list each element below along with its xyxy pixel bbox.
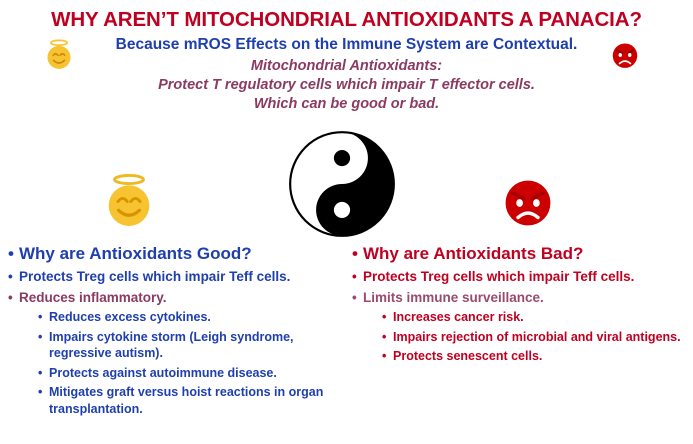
column-antioxidants-good: • Why are Antioxidants Good? • Protects …	[8, 243, 346, 420]
right-heading-row: • Why are Antioxidants Bad?	[352, 243, 688, 264]
page-subtitle: Because mROS Effects on the Immune Syste…	[0, 36, 693, 54]
left-column-heading: Why are Antioxidants Good?	[19, 243, 346, 264]
list-item-label: Protects Treg cells which impair Teff ce…	[19, 267, 346, 286]
list-item: • Mitigates graft versus hoist reactions…	[38, 384, 346, 417]
note-line-1: Mitochondrial Antioxidants:	[0, 57, 693, 76]
bullet-glyph: •	[38, 384, 49, 401]
list-item: • Reduces inflammatory.	[8, 288, 346, 307]
slide-canvas: WHY AREN’T MITOCHONDRIAL ANTIOXIDANTS A …	[0, 0, 693, 444]
list-item-label: Impairs cytokine storm (Leigh syndrome, …	[49, 329, 346, 362]
list-item: • Protects senescent cells.	[382, 348, 688, 365]
list-item-label: Reduces inflammatory.	[19, 288, 346, 307]
page-title: WHY AREN’T MITOCHONDRIAL ANTIOXIDANTS A …	[0, 8, 693, 32]
list-item-label: Impairs rejection of microbial and viral…	[393, 329, 688, 346]
angry-face-icon	[608, 38, 642, 72]
list-item-label: Protects Treg cells which impair Teff ce…	[363, 267, 688, 286]
bullet-glyph: •	[382, 309, 393, 326]
bullet-glyph: •	[382, 348, 393, 365]
right-column-heading: Why are Antioxidants Bad?	[363, 243, 688, 264]
list-item: • Impairs cytokine storm (Leigh syndrome…	[38, 329, 346, 362]
note-line-2: Protect T regulatory cells which impair …	[0, 76, 693, 95]
list-item: • Protects Treg cells which impair Teff …	[352, 267, 688, 286]
bullet-glyph: •	[38, 309, 49, 326]
list-item-label: Protects against autoimmune disease.	[49, 365, 346, 382]
list-item: • Limits immune surveillance.	[352, 288, 688, 307]
smiling-face-with-halo-large-icon	[100, 172, 158, 230]
note-line-3: Which can be good or bad.	[0, 95, 693, 114]
list-item: • Reduces excess cytokines.	[38, 309, 346, 326]
list-item-label: Reduces excess cytokines.	[49, 309, 346, 326]
bullet-glyph: •	[352, 267, 363, 286]
list-item: • Protects against autoimmune disease.	[38, 365, 346, 382]
bullet-glyph: •	[382, 329, 393, 346]
list-item: • Increases cancer risk.	[382, 309, 688, 326]
list-item-label: Limits immune surveillance.	[363, 288, 688, 307]
list-item: • Protects Treg cells which impair Teff …	[8, 267, 346, 286]
bullet-glyph: •	[8, 288, 19, 307]
left-heading-row: • Why are Antioxidants Good?	[8, 243, 346, 264]
list-item-label: Mitigates graft versus hoist reactions i…	[49, 384, 346, 417]
list-item: • Impairs rejection of microbial and vir…	[382, 329, 688, 346]
bullet-glyph: •	[8, 267, 19, 286]
column-antioxidants-bad: • Why are Antioxidants Bad? • Protects T…	[352, 243, 688, 368]
smiling-face-with-halo-icon	[42, 38, 76, 72]
bullet-glyph: •	[38, 365, 49, 382]
list-item-label: Protects senescent cells.	[393, 348, 688, 365]
bullet-glyph: •	[352, 243, 363, 264]
list-item-label: Increases cancer risk.	[393, 309, 688, 326]
bullet-glyph: •	[8, 243, 19, 264]
bullet-glyph: •	[352, 288, 363, 307]
yin-yang-icon	[288, 130, 396, 238]
mitochondrial-antioxidants-note: Mitochondrial Antioxidants: Protect T re…	[0, 57, 693, 114]
bullet-glyph: •	[38, 329, 49, 346]
angry-face-large-icon	[500, 175, 556, 231]
